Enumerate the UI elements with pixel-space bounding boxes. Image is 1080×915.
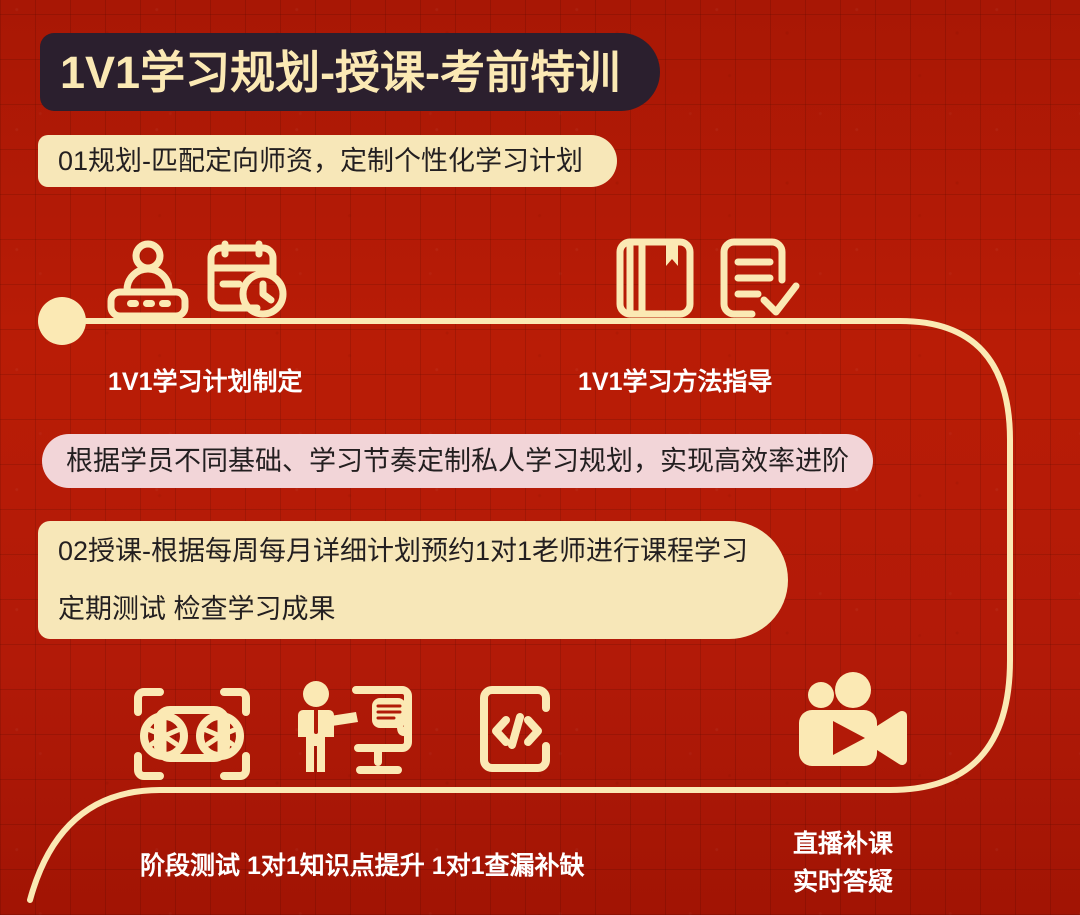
caption-stage-test-group: 阶段测试 1对1知识点提升 1对1查漏补缺 [140, 850, 585, 882]
document-check-icon [718, 236, 802, 320]
caption-method-guidance: 1V1学习方法指导 [578, 366, 772, 398]
code-brackets-icon [478, 684, 560, 774]
caption-plan-making: 1V1学习计划制定 [108, 366, 302, 398]
teacher-whiteboard-icon [294, 680, 412, 780]
section-02-banner-line2: 定期测试 检查学习成果 [58, 580, 748, 638]
film-reel-frame-icon [132, 686, 252, 782]
caption-live-makeup-class: 直播补课 [793, 828, 893, 860]
calendar-clock-icon [205, 240, 287, 320]
caption-realtime-qa: 实时答疑 [793, 866, 893, 898]
person-podium-icon [105, 240, 191, 322]
page-title: 1V1学习规划-授课-考前特训 [60, 50, 620, 95]
section-01-note-text: 根据学员不同基础、学习节奏定制私人学习规划，实现高效率进阶 [66, 448, 849, 475]
section-01-banner-text: 01规划-匹配定向师资，定制个性化学习计划 [58, 148, 583, 175]
book-bookmark-icon [614, 236, 696, 320]
section-02-banner: 02授课-根据每周每月详细计划预约1对1老师进行课程学习 定期测试 检查学习成果 [38, 521, 788, 639]
section-02-banner-line1: 02授课-根据每周每月详细计划预约1对1老师进行课程学习 [58, 522, 748, 580]
page-title-bar: 1V1学习规划-授课-考前特训 [40, 33, 660, 111]
timeline-start-dot [38, 297, 86, 345]
section-01-banner: 01规划-匹配定向师资，定制个性化学习计划 [38, 135, 617, 187]
video-camera-play-icon [795, 672, 907, 772]
section-01-note-banner: 根据学员不同基础、学习节奏定制私人学习规划，实现高效率进阶 [42, 434, 873, 488]
